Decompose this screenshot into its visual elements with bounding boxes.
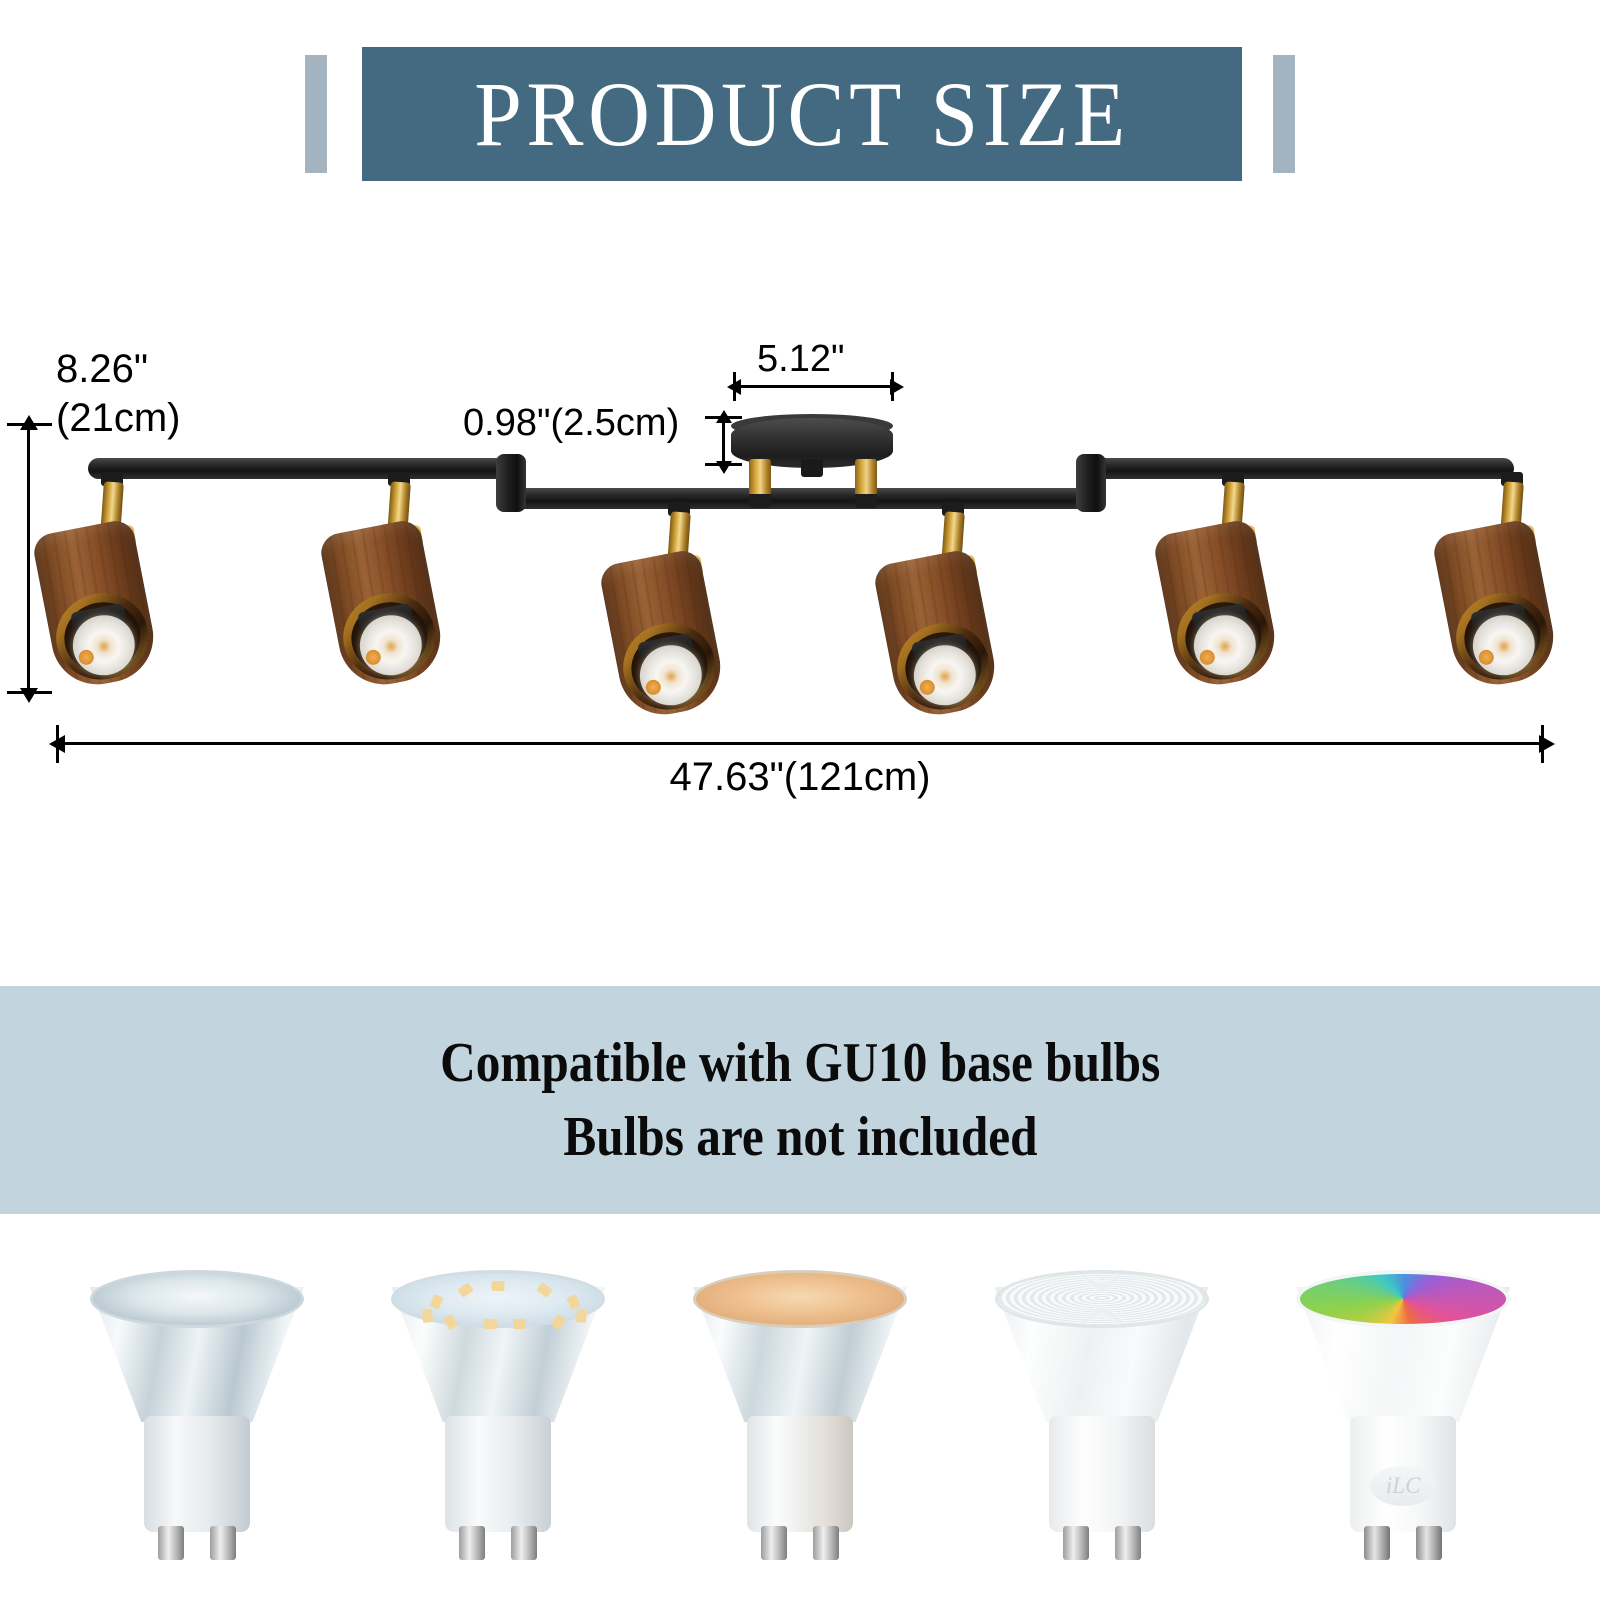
banner-accent-bar-left — [305, 55, 327, 173]
height-cm: (21cm) — [56, 394, 180, 443]
bulb-4-base-body — [1049, 1416, 1155, 1532]
bulb-2-led-chip — [566, 1294, 581, 1310]
bulb-2-led-chip — [536, 1282, 552, 1298]
bulb-2-led-chip — [513, 1319, 526, 1329]
bulb-5-brand-logo: iLC — [1370, 1466, 1436, 1506]
dimension-label-canopy-thickness: 0.98"(2.5cm) — [463, 402, 679, 445]
bulb-4-lens-face — [995, 1270, 1209, 1328]
canopy-post-cap-left — [749, 494, 771, 508]
track-rail-center — [508, 488, 1092, 509]
track-joint-right — [1076, 454, 1106, 512]
bulb-1-base-body — [144, 1416, 250, 1532]
bulb-frosted — [977, 1254, 1227, 1584]
bulb-4-gu10-pin-left — [1063, 1526, 1089, 1560]
bulb-2-led-chip — [492, 1281, 505, 1291]
head-5-shade — [1152, 518, 1282, 693]
width-dimension-arrow — [62, 742, 1542, 745]
bulb-2-gu10-pin-left — [459, 1526, 485, 1560]
bulb-1-gu10-pin-left — [158, 1526, 184, 1560]
compatibility-note-band: Compatible with GU10 base bulbs Bulbs ar… — [0, 986, 1600, 1214]
canopy-center-nub — [801, 459, 823, 477]
bulb-2-lens-face — [391, 1270, 605, 1328]
bulb-2-led-chip — [484, 1319, 497, 1329]
bulb-smd-ring — [373, 1254, 623, 1584]
bulb-2-led-chip — [422, 1309, 433, 1323]
bulb-4-gu10-pin-right — [1115, 1526, 1141, 1560]
bulb-5-gu10-pin-left — [1364, 1526, 1390, 1560]
bulb-2-led-chip — [457, 1282, 473, 1298]
bulb-5-gu10-pin-right — [1416, 1526, 1442, 1560]
dimension-label-height: 8.26" (21cm) — [56, 345, 180, 443]
compatible-bulb-gallery: iLC — [0, 1228, 1600, 1600]
head-1-shade — [31, 518, 161, 693]
head-3-shade — [598, 548, 728, 723]
bulb-2-led-chip — [576, 1309, 587, 1323]
bulb-rgb-smart: iLC — [1278, 1254, 1528, 1584]
bulb-warm-array — [675, 1254, 925, 1584]
head-6-shade — [1431, 518, 1561, 693]
bulb-2-led-chip — [429, 1294, 444, 1310]
bulb-clear-glass — [72, 1254, 322, 1584]
compatibility-line-1: Compatible with GU10 base bulbs — [440, 1033, 1160, 1093]
dimension-label-total-width: 47.63"(121cm) — [0, 755, 1600, 800]
page-title: PRODUCT SIZE — [393, 47, 1211, 181]
canopy-diameter-arrow — [738, 385, 893, 388]
height-dimension-arrow — [27, 428, 30, 690]
track-rail-left — [88, 458, 518, 479]
bulb-1-lens-face — [90, 1270, 304, 1328]
height-inches: 8.26" — [56, 345, 180, 394]
bulb-2-base-body — [445, 1416, 551, 1532]
banner-accent-bar-right — [1273, 55, 1295, 173]
bulb-3-base-body — [747, 1416, 853, 1532]
bulb-3-lens-face — [693, 1270, 907, 1328]
bulb-1-gu10-pin-right — [210, 1526, 236, 1560]
head-4-shade — [872, 548, 1002, 723]
bulb-2-gu10-pin-right — [511, 1526, 537, 1560]
track-joint-left — [496, 454, 526, 512]
canopy-thickness-arrow — [722, 420, 725, 464]
bulb-3-gu10-pin-left — [761, 1526, 787, 1560]
dimension-label-canopy-diameter: 5.12" — [757, 338, 844, 381]
track-rail-right — [1082, 458, 1514, 479]
bulb-3-gu10-pin-right — [813, 1526, 839, 1560]
compatibility-line-2: Bulbs are not included — [563, 1107, 1037, 1167]
canopy-post-cap-right — [855, 494, 877, 508]
head-2-shade — [318, 518, 448, 693]
product-size-diagram: 8.26" (21cm) 0.98"(2.5cm) 5.12" 47.63"(1… — [0, 210, 1600, 970]
header-banner: PRODUCT SIZE — [0, 0, 1600, 210]
bulb-5-rgb-lens-face — [1296, 1270, 1510, 1328]
